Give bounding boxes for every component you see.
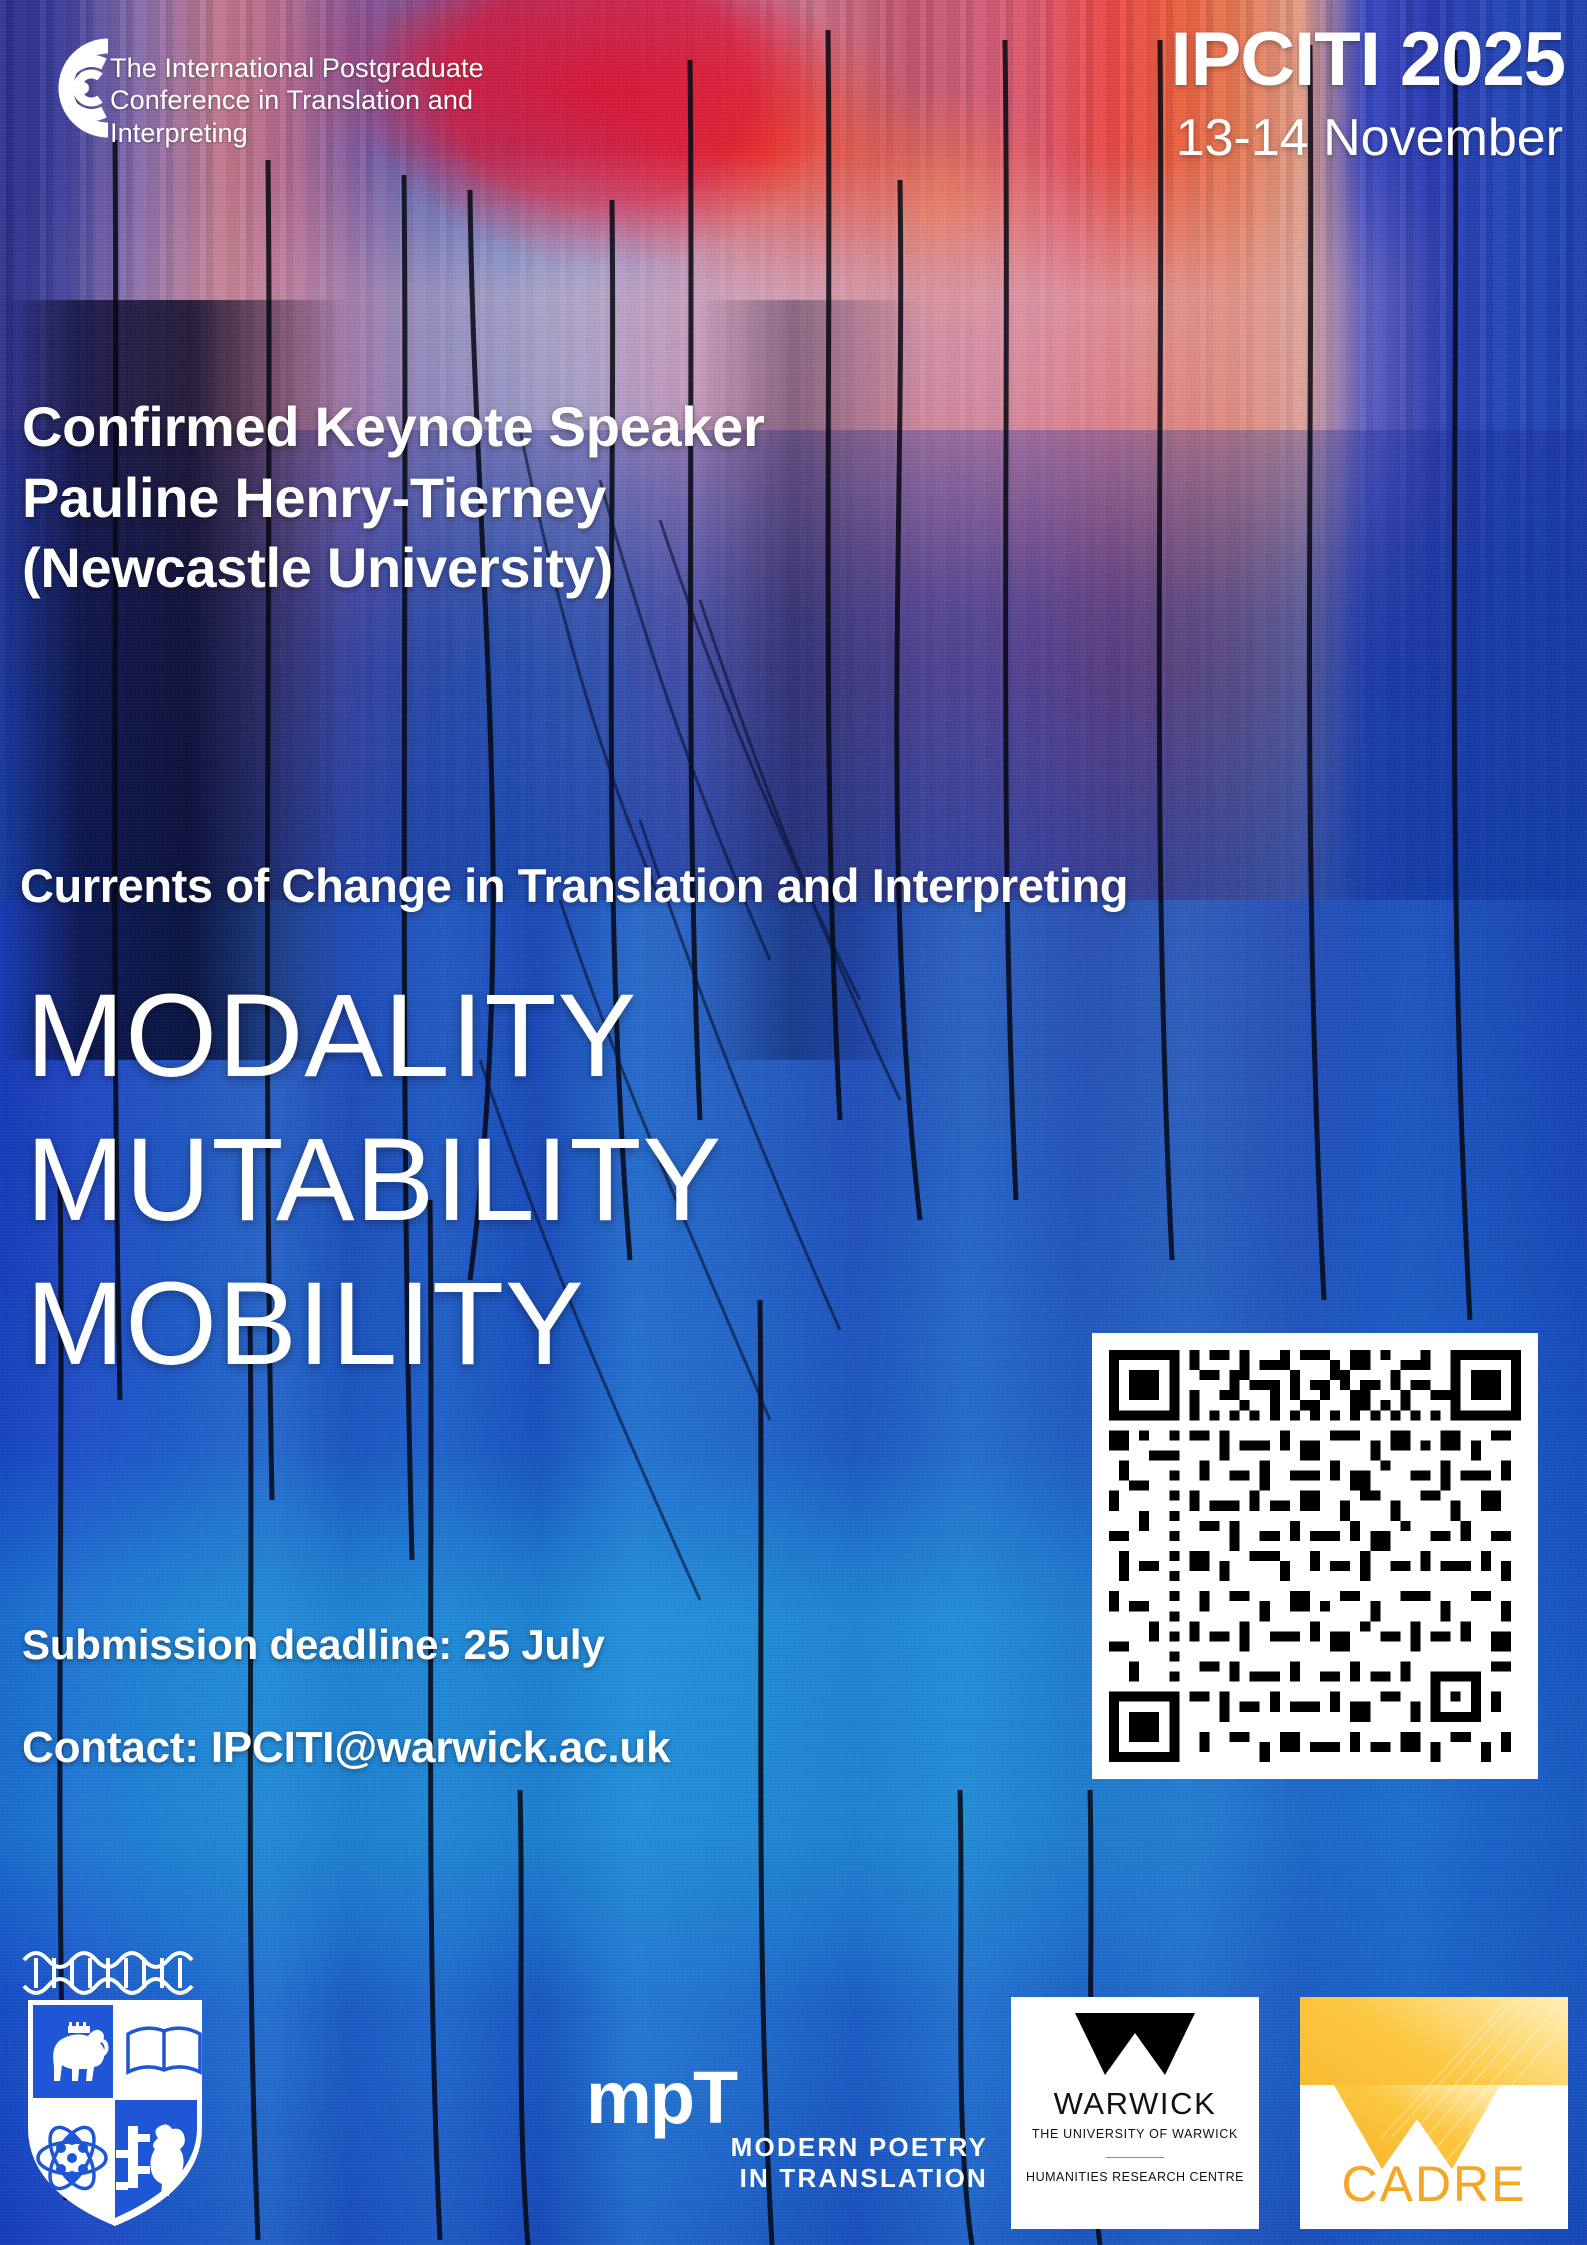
warwick-university-crest-icon [6,1938,224,2238]
keynote-speaker-name: Pauline Henry-Tierney [22,463,1022,534]
conference-theme: Currents of Change in Translation and In… [20,860,1580,912]
warwick-name: WARWICK [1054,2086,1217,2122]
conference-poster: The International Postgraduate Conferenc… [0,0,1587,2245]
org-name-line-3: Interpreting [110,117,530,149]
keynote-block: Confirmed Keynote Speaker Pauline Henry-… [22,392,1022,604]
warwick-subtitle: THE UNIVERSITY OF WARWICK [1032,2127,1238,2141]
contact-email[interactable]: Contact: IPCITI@warwick.ac.uk [22,1723,670,1773]
organisation-name: The International Postgraduate Conferenc… [110,52,530,149]
conference-title: IPCITI 2025 [1170,22,1565,98]
headline-keywords: MODALITY MUTABILITY MOBILITY [26,965,722,1397]
headline-word-mutability: MUTABILITY [26,1109,722,1253]
warwick-w-mark-icon [1075,2013,1195,2075]
qr-code-icon[interactable] [1092,1333,1538,1779]
conference-dates: 13-14 November [1176,112,1563,164]
headline-word-mobility: MOBILITY [26,1253,722,1397]
keynote-label: Confirmed Keynote Speaker [22,392,1022,463]
warwick-unit-name: HUMANITIES RESEARCH CENTRE [1026,2170,1244,2184]
cadre-logo: CADRE [1300,1997,1568,2229]
org-name-line-2: Conference in Translation and [110,84,530,116]
mpt-wordmark: mpT [572,2065,992,2132]
mpt-subtitle: MODERN POETRY IN TRANSLATION [572,2132,992,2194]
mpt-mark-text: mpT [586,2056,736,2139]
keynote-speaker-affiliation: (Newcastle University) [22,533,1022,604]
submission-deadline: Submission deadline: 25 July [22,1621,605,1669]
cadre-name: CADRE [1300,2155,1568,2213]
warwick-divider [1106,2157,1164,2158]
mpt-subtitle-line-2: IN TRANSLATION [572,2163,988,2194]
org-name-line-1: The International Postgraduate [110,52,530,84]
headline-word-modality: MODALITY [26,965,722,1109]
mpt-logo: mpT MODERN POETRY IN TRANSLATION [572,2065,992,2240]
warwick-logo: WARWICK THE UNIVERSITY OF WARWICK HUMANI… [1011,1997,1259,2229]
